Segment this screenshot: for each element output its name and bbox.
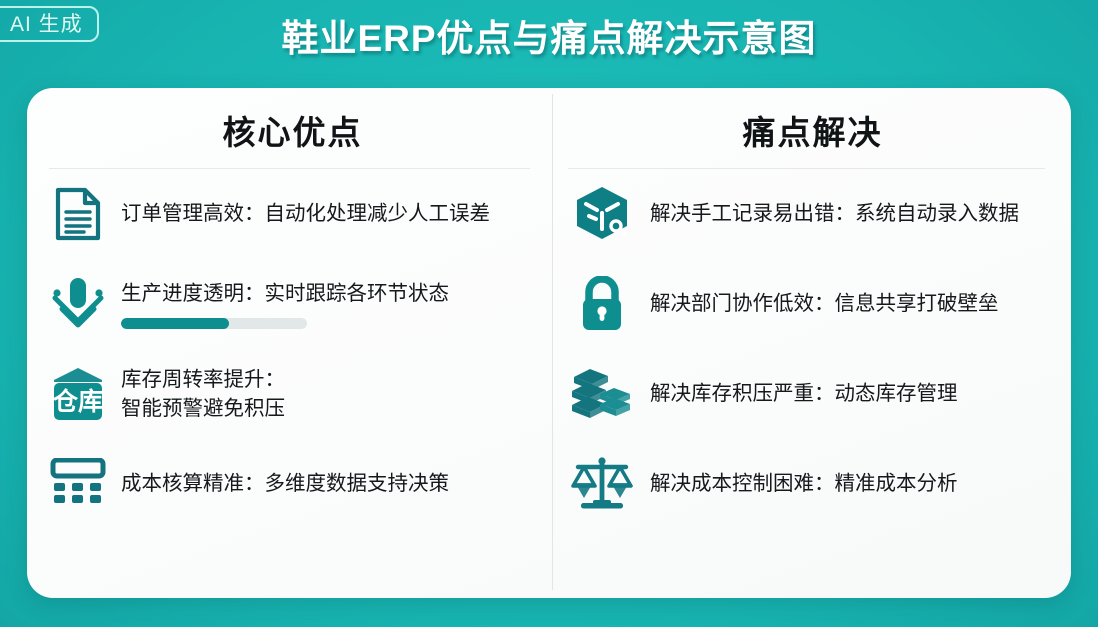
item-body: 生产进度透明：实时跟踪各环节状态 [121, 279, 552, 328]
lock-icon [554, 276, 650, 332]
stacked-boxes-icon [554, 366, 650, 422]
list-item[interactable]: 订单管理高效：自动化处理减少人工误差 [35, 169, 552, 259]
warehouse-icon-label: 仓库 [52, 387, 103, 416]
painpoints-list: 解决手工记录易出错：系统自动录入数据 解决部门协作低效：信息共享打破壁垒 [552, 169, 1071, 529]
item-label: 生产进度透明：实时跟踪各环节状态 [121, 282, 449, 305]
list-item[interactable]: 解决手工记录易出错：系统自动录入数据 [554, 169, 1071, 259]
column-advantages: 核心优点 [27, 88, 552, 598]
item-label: 库存周转率提升： [121, 365, 552, 394]
cube-scan-icon [554, 185, 650, 243]
item-body: 解决库存积压严重：动态库存管理 [650, 379, 1071, 408]
item-label: 解决部门协作低效：信息共享打破壁垒 [650, 292, 999, 315]
list-item[interactable]: 解决部门协作低效：信息共享打破壁垒 [554, 259, 1071, 349]
item-label: 解决手工记录易出错：系统自动录入数据 [650, 202, 1019, 225]
item-label: 解决成本控制困难：精准成本分析 [650, 472, 958, 495]
document-icon [35, 187, 121, 241]
list-item[interactable]: 解决库存积压严重：动态库存管理 [554, 349, 1071, 439]
progress-bar [121, 318, 307, 329]
column-heading-advantages: 核心优点 [27, 106, 552, 168]
list-item[interactable]: 仓库 库存周转率提升： 智能预警避免积压 [35, 349, 552, 439]
calculator-icon [35, 458, 121, 510]
item-label: 解决库存积压严重：动态库存管理 [650, 382, 958, 405]
item-body: 解决成本控制困难：精准成本分析 [650, 469, 1071, 498]
item-body: 库存周转率提升： 智能预警避免积压 [121, 365, 552, 423]
item-body: 订单管理高效：自动化处理减少人工误差 [121, 199, 552, 228]
item-label: 成本核算精准：多维度数据支持决策 [121, 472, 449, 495]
item-label: 订单管理高效：自动化处理减少人工误差 [121, 202, 490, 225]
content-card: 核心优点 [27, 88, 1071, 598]
list-item[interactable]: 成本核算精准：多维度数据支持决策 [35, 439, 552, 529]
page-title: 鞋业ERP优点与痛点解决示意图 [0, 8, 1098, 62]
item-body: 成本核算精准：多维度数据支持决策 [121, 469, 552, 498]
advantages-list: 订单管理高效：自动化处理减少人工误差 生产进度透 [27, 169, 552, 529]
balance-scale-icon [554, 456, 650, 512]
progress-bar-fill [121, 318, 229, 329]
infographic-canvas: AI 生成 鞋业ERP优点与痛点解决示意图 核心优点 [0, 0, 1098, 627]
warehouse-box-icon: 仓库 [35, 365, 121, 423]
column-heading-painpoints: 痛点解决 [552, 106, 1071, 168]
column-painpoints: 痛点解决 [552, 88, 1071, 598]
list-item[interactable]: 生产进度透明：实时跟踪各环节状态 [35, 259, 552, 349]
item-body: 解决部门协作低效：信息共享打破壁垒 [650, 289, 1071, 318]
progress-shield-icon [35, 276, 121, 332]
item-body: 解决手工记录易出错：系统自动录入数据 [650, 199, 1071, 228]
item-label-line2: 智能预警避免积压 [121, 394, 552, 423]
list-item[interactable]: 解决成本控制困难：精准成本分析 [554, 439, 1071, 529]
